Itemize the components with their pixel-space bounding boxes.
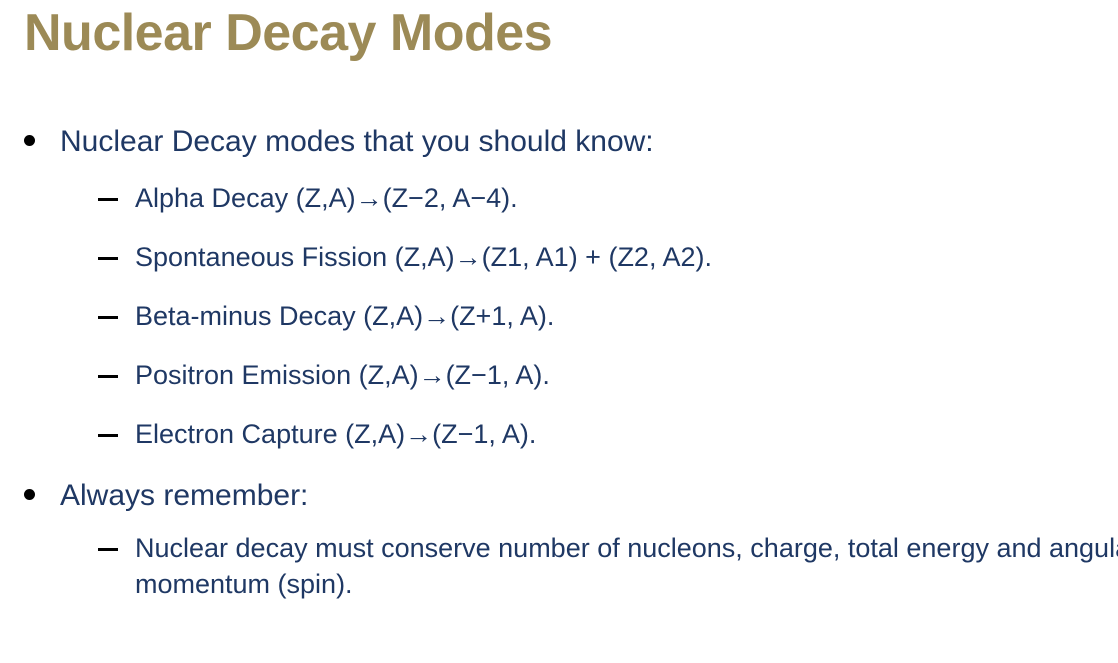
bullet-text: Electron Capture (Z,A)→(Z−1, A). [135,419,536,449]
bullet-text: Nuclear Decay modes that you should know… [60,125,654,158]
bullet-item-level2: Nuclear decay must conserve number of nu… [0,530,1118,602]
sub-bullet-group: Alpha Decay (Z,A)→(Z−2, A−4). Spontaneou… [0,180,1118,452]
bullet-text: Spontaneous Fission (Z,A)→(Z1, A1) + (Z2… [135,242,712,272]
slide-canvas: Nuclear Decay Modes Nuclear Decay modes … [0,0,1118,663]
bullet-item-level2: Alpha Decay (Z,A)→(Z−2, A−4). [0,180,1118,216]
bullet-text: Beta-minus Decay (Z,A)→(Z+1, A). [135,301,554,331]
bullet-list: Nuclear Decay modes that you should know… [0,122,1118,602]
bullet-item-level2: Spontaneous Fission (Z,A)→(Z1, A1) + (Z2… [0,239,1118,275]
bullet-text: Alpha Decay (Z,A)→(Z−2, A−4). [135,183,518,213]
bullet-item-level1: Always remember: [0,476,1118,516]
bullet-dot-icon [24,476,42,516]
bullet-dot-icon [24,122,42,162]
dash-icon [98,239,118,275]
bullet-text: Positron Emission (Z,A)→(Z−1, A). [135,360,550,390]
bullet-item-level2: Positron Emission (Z,A)→(Z−1, A). [0,357,1118,393]
dash-icon [98,530,118,566]
sub-bullet-group: Nuclear decay must conserve number of nu… [0,530,1118,602]
page-title: Nuclear Decay Modes [24,2,552,64]
dash-icon [98,416,118,452]
bullet-item-level2: Beta-minus Decay (Z,A)→(Z+1, A). [0,298,1118,334]
bullet-text: Always remember: [60,479,308,512]
bullet-item-level1: Nuclear Decay modes that you should know… [0,122,1118,162]
dash-icon [98,357,118,393]
bullet-item-level2: Electron Capture (Z,A)→(Z−1, A). [0,416,1118,452]
dash-icon [98,180,118,216]
bullet-text: Nuclear decay must conserve number of nu… [135,533,1118,599]
dash-icon [98,298,118,334]
